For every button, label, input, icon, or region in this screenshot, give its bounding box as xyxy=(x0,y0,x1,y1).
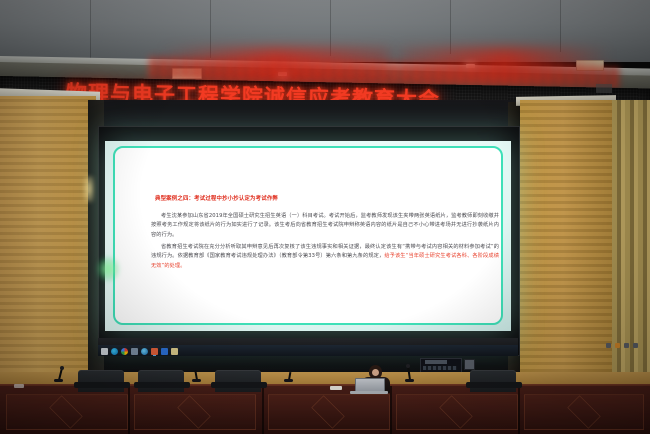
slide-paragraph-text: 省教育招生考试院在充分分析听取其申辩意见后再次复核了该生违规事实和相关证据，最终… xyxy=(151,244,499,269)
microphone-base xyxy=(54,379,63,382)
podium-seam xyxy=(390,386,392,434)
ceiling-seam xyxy=(90,0,91,60)
laptop-base xyxy=(350,391,388,394)
ceiling xyxy=(0,0,650,62)
wall-lamp-glow xyxy=(84,176,94,202)
warning-icon[interactable] xyxy=(615,343,620,348)
desk-paper xyxy=(14,384,24,388)
file-explorer-icon[interactable] xyxy=(131,348,138,355)
slide-title: 典型案例之四：考试过程中抄小抄认定为考试作弊 xyxy=(155,196,495,203)
chair xyxy=(138,370,184,392)
chair xyxy=(215,370,261,392)
chair-arm xyxy=(134,382,190,388)
led-board-indicator xyxy=(596,84,612,93)
projection-screen[interactable]: 典型案例之四：考试过程中抄小抄认定为考试作弊 考生沈某参加山东省2019年全国硕… xyxy=(105,141,511,331)
ceiling-seam xyxy=(560,0,561,52)
whiteboard-bezel xyxy=(98,338,518,356)
media-player-icon[interactable] xyxy=(141,348,148,355)
slide-paragraph: 省教育招生考试院在充分分析听取其申辩意见后再次复核了该生违规事实和相关证据，最终… xyxy=(151,243,499,271)
control-button[interactable] xyxy=(464,359,475,370)
microphone-head xyxy=(60,366,64,370)
slide-frame: 典型案例之四：考试过程中抄小抄认定为考试作弊 考生沈某参加山东省2019年全国硕… xyxy=(113,146,503,325)
chair xyxy=(470,370,516,392)
wall-panel-right xyxy=(520,100,616,400)
microphone-base xyxy=(192,379,201,382)
seated-speaker-face xyxy=(372,369,379,376)
whiteboard-control-row[interactable] xyxy=(606,343,638,348)
edge-browser-icon[interactable] xyxy=(111,348,118,355)
chrome-browser-icon[interactable] xyxy=(121,348,128,355)
ceiling-seam xyxy=(330,0,331,56)
podium-seam xyxy=(518,386,520,434)
screen-edge-light-glow xyxy=(96,256,120,282)
slide-body: 考生沈某参加山东省2019年全国硕士研究生招生英语（一）科目考试。考试开始后，监… xyxy=(151,212,499,273)
podium-seam xyxy=(128,386,130,434)
slide-highlight-text: 给予该生“当年硕士研究生考试各科、各阶段成绩无效”的处理。 xyxy=(151,253,499,268)
pdf-reader-icon[interactable] xyxy=(151,348,158,355)
windows-taskbar[interactable] xyxy=(98,345,518,356)
chair xyxy=(78,370,124,392)
ceiling-seam xyxy=(210,0,211,58)
mini-display-keys xyxy=(423,366,457,370)
powerpoint-icon[interactable] xyxy=(161,348,168,355)
desk-paper xyxy=(330,386,342,390)
volume-icon[interactable] xyxy=(633,343,638,348)
chair-arm xyxy=(466,382,522,388)
slide-paragraph: 考生沈某参加山东省2019年全国硕士研究生招生英语（一）科目考试。考试开始后，监… xyxy=(151,212,499,240)
microphone-head xyxy=(406,364,410,368)
curtain xyxy=(612,100,650,400)
chevron-up-icon[interactable] xyxy=(606,343,611,348)
start-icon[interactable] xyxy=(101,348,108,355)
network-icon[interactable] xyxy=(624,343,629,348)
chair-arm xyxy=(211,382,267,388)
taskbar-icon-group[interactable] xyxy=(101,348,178,355)
microphone-base xyxy=(405,379,414,382)
window-icon[interactable] xyxy=(171,348,178,355)
chair-arm xyxy=(74,382,130,388)
microphone-base xyxy=(284,379,293,382)
conference-hall-photo: 物理与电子工程学院诚信应考教育大会 典型案例之四：考试过程中抄小抄认定为考试作弊… xyxy=(0,0,650,434)
ceiling-seam xyxy=(450,0,451,54)
mini-display-readout xyxy=(425,360,447,364)
wall-panel-left xyxy=(0,96,96,396)
podium-seam xyxy=(262,386,264,434)
